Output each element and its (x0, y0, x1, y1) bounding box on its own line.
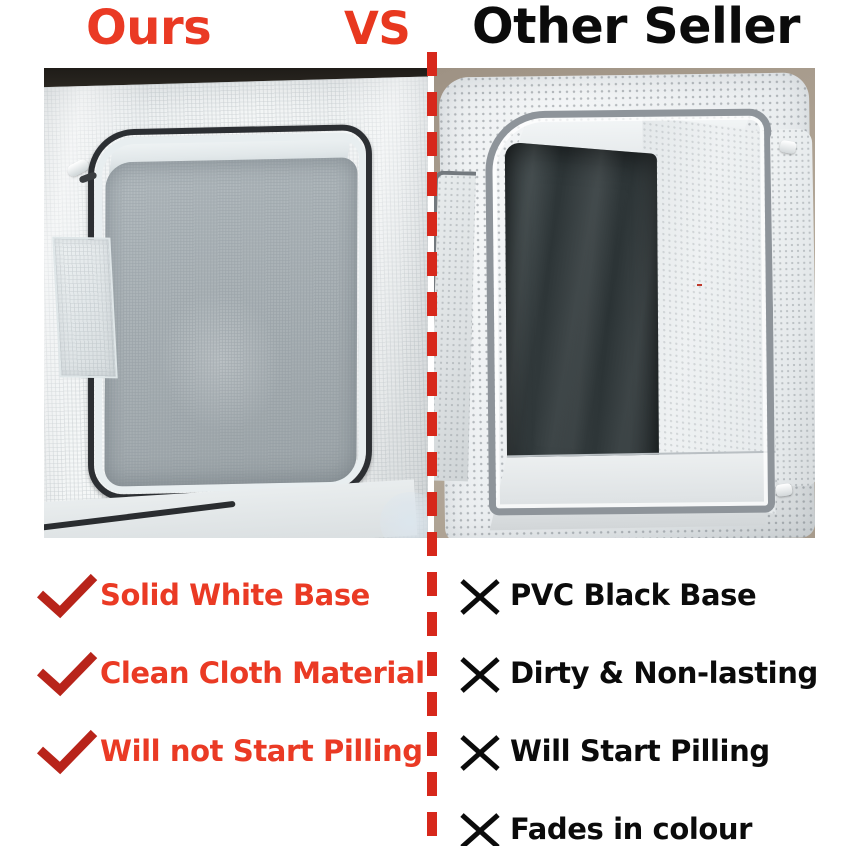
header-vs-label: VS (344, 6, 410, 51)
cross-icon (452, 650, 510, 696)
ours-feature-label: Solid White Base (100, 581, 370, 610)
cross-icon (452, 806, 510, 846)
check-icon (34, 572, 100, 618)
ours-feature-label: Will not Start Pilling (100, 737, 423, 766)
other-feature-row-1: PVC Black Base (452, 556, 846, 634)
buckle-top (779, 140, 797, 155)
other-feature-row-3: Will Start Pilling (452, 712, 846, 790)
header-ours-title: Ours (86, 4, 211, 52)
check-icon (34, 650, 100, 696)
ours-feature-row-2: Clean Cloth Material (34, 634, 424, 712)
ours-feature-row-1: Solid White Base (34, 556, 424, 634)
other-feature-label: Will Start Pilling (510, 737, 770, 766)
other-seller-product-photo (434, 68, 815, 538)
other-feature-row-4: Fades in colour (452, 790, 846, 846)
other-feature-row-2: Dirty & Non-lasting (452, 634, 846, 712)
other-seller-feature-list: PVC Black Base Dirty & Non-lasting Will … (452, 556, 846, 846)
vertical-dashed-divider (427, 52, 437, 838)
red-speck (697, 284, 702, 286)
side-mesh-flap (52, 237, 117, 379)
cross-icon (452, 728, 510, 774)
ours-product-photo (44, 68, 428, 538)
header: Ours VS Other Seller (0, 0, 846, 62)
grey-mesh-screen (105, 157, 358, 487)
comparison-infographic: Ours VS Other Seller (0, 0, 846, 846)
ours-feature-row-3: Will not Start Pilling (34, 712, 424, 790)
mesh-highlight (144, 275, 299, 447)
cross-icon (452, 572, 510, 618)
right-side-panel (770, 129, 815, 487)
header-other-title: Other Seller (472, 2, 800, 51)
buckle-bottom (775, 483, 793, 497)
ours-feature-list: Solid White Base Clean Cloth Material Wi… (34, 556, 424, 790)
other-feature-label: PVC Black Base (510, 581, 756, 610)
other-feature-label: Fades in colour (510, 815, 752, 844)
ours-feature-label: Clean Cloth Material (100, 659, 425, 688)
front-opening-piping (485, 109, 775, 516)
other-feature-label: Dirty & Non-lasting (510, 659, 818, 688)
check-icon (34, 728, 100, 774)
